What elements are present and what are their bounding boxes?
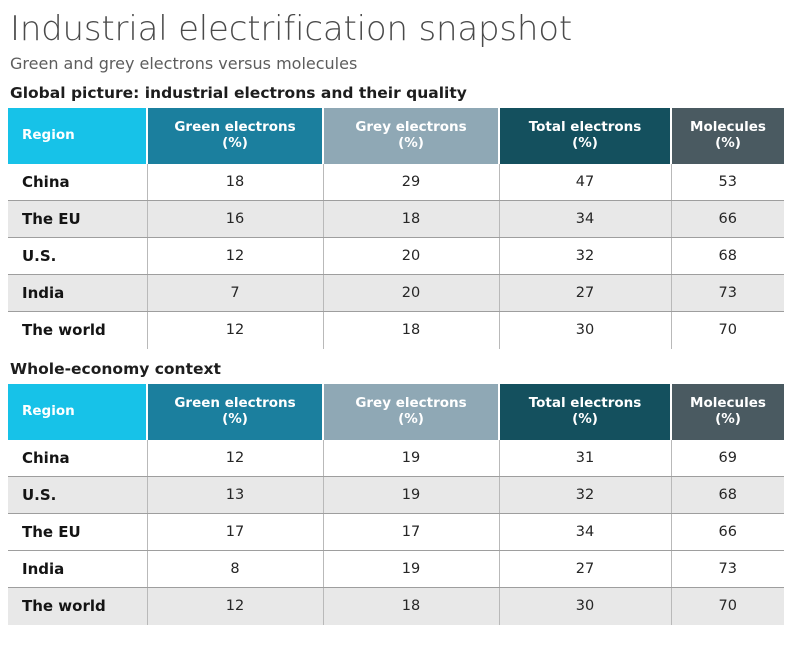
col-header-green-label: Green electrons <box>174 395 295 411</box>
cell-molecules: 68 <box>671 238 784 275</box>
col-header-green-label: Green electrons <box>174 119 295 135</box>
cell-molecules: 68 <box>671 477 784 514</box>
cell-molecules: 73 <box>671 275 784 312</box>
col-header-region-label: Region <box>22 127 75 143</box>
cell-region: The EU <box>8 201 147 238</box>
table-row: U.S. 12 20 32 68 <box>8 238 784 275</box>
cell-total: 34 <box>499 514 671 551</box>
table-body-global: China 18 29 47 53 The EU 16 18 34 66 U.S… <box>8 164 784 349</box>
table-wrap-global: Region Green electrons (%) Grey electron… <box>0 108 794 349</box>
cell-grey: 17 <box>323 514 499 551</box>
table-row: The EU 16 18 34 66 <box>8 201 784 238</box>
cell-region: The EU <box>8 514 147 551</box>
cell-grey: 20 <box>323 238 499 275</box>
cell-total: 32 <box>499 477 671 514</box>
col-header-molecules-label: Molecules <box>690 395 766 411</box>
cell-molecules: 73 <box>671 551 784 588</box>
col-header-molecules-unit: (%) <box>680 136 776 152</box>
cell-green: 16 <box>147 201 323 238</box>
col-header-green-unit: (%) <box>156 412 314 428</box>
table-row: China 12 19 31 69 <box>8 440 784 477</box>
cell-grey: 29 <box>323 164 499 201</box>
col-header-grey-unit: (%) <box>332 412 490 428</box>
col-header-molecules-label: Molecules <box>690 119 766 135</box>
cell-green: 8 <box>147 551 323 588</box>
table-row: India 8 19 27 73 <box>8 551 784 588</box>
cell-green: 17 <box>147 514 323 551</box>
col-header-total-electrons: Total electrons (%) <box>499 384 671 440</box>
cell-molecules: 70 <box>671 588 784 625</box>
cell-grey: 19 <box>323 551 499 588</box>
cell-green: 7 <box>147 275 323 312</box>
section-heading-global: Global picture: industrial electrons and… <box>0 73 794 108</box>
table-row: The world 12 18 30 70 <box>8 312 784 349</box>
table-global-picture: Region Green electrons (%) Grey electron… <box>8 108 784 349</box>
cell-total: 30 <box>499 312 671 349</box>
col-header-grey-electrons: Grey electrons (%) <box>323 384 499 440</box>
table-row: The world 12 18 30 70 <box>8 588 784 625</box>
table-header-whole-economy: Region Green electrons (%) Grey electron… <box>8 384 784 440</box>
col-header-region: Region <box>8 384 147 440</box>
cell-region: India <box>8 551 147 588</box>
col-header-green-unit: (%) <box>156 136 314 152</box>
table-row: The EU 17 17 34 66 <box>8 514 784 551</box>
col-header-total-unit: (%) <box>508 412 662 428</box>
cell-total: 32 <box>499 238 671 275</box>
table-wrap-whole-economy: Region Green electrons (%) Grey electron… <box>0 384 794 625</box>
col-header-molecules-unit: (%) <box>680 412 776 428</box>
section-heading-whole-economy: Whole-economy context <box>0 349 794 384</box>
table-row: China 18 29 47 53 <box>8 164 784 201</box>
col-header-green-electrons: Green electrons (%) <box>147 384 323 440</box>
cell-region: India <box>8 275 147 312</box>
cell-grey: 19 <box>323 477 499 514</box>
col-header-grey-label: Grey electrons <box>355 119 466 135</box>
col-header-total-electrons: Total electrons (%) <box>499 108 671 164</box>
col-header-total-label: Total electrons <box>529 395 642 411</box>
cell-grey: 18 <box>323 312 499 349</box>
cell-green: 13 <box>147 477 323 514</box>
col-header-total-label: Total electrons <box>529 119 642 135</box>
col-header-green-electrons: Green electrons (%) <box>147 108 323 164</box>
cell-region: U.S. <box>8 477 147 514</box>
cell-green: 12 <box>147 440 323 477</box>
col-header-grey-unit: (%) <box>332 136 490 152</box>
table-body-whole-economy: China 12 19 31 69 U.S. 13 19 32 68 The E… <box>8 440 784 625</box>
cell-total: 34 <box>499 201 671 238</box>
cell-grey: 20 <box>323 275 499 312</box>
table-row: U.S. 13 19 32 68 <box>8 477 784 514</box>
cell-green: 12 <box>147 588 323 625</box>
cell-green: 18 <box>147 164 323 201</box>
table-header-global: Region Green electrons (%) Grey electron… <box>8 108 784 164</box>
cell-region: The world <box>8 588 147 625</box>
cell-region: China <box>8 164 147 201</box>
col-header-grey-electrons: Grey electrons (%) <box>323 108 499 164</box>
col-header-total-unit: (%) <box>508 136 662 152</box>
col-header-grey-label: Grey electrons <box>355 395 466 411</box>
cell-total: 27 <box>499 551 671 588</box>
cell-total: 31 <box>499 440 671 477</box>
header-row: Region Green electrons (%) Grey electron… <box>8 108 784 164</box>
cell-total: 30 <box>499 588 671 625</box>
cell-grey: 18 <box>323 201 499 238</box>
cell-molecules: 66 <box>671 201 784 238</box>
header-row: Region Green electrons (%) Grey electron… <box>8 384 784 440</box>
cell-region: The world <box>8 312 147 349</box>
cell-green: 12 <box>147 238 323 275</box>
table-row: India 7 20 27 73 <box>8 275 784 312</box>
cell-grey: 19 <box>323 440 499 477</box>
cell-region: China <box>8 440 147 477</box>
cell-total: 27 <box>499 275 671 312</box>
page-title: Industrial electrification snapshot <box>0 0 794 48</box>
cell-molecules: 70 <box>671 312 784 349</box>
col-header-molecules: Molecules (%) <box>671 384 784 440</box>
cell-total: 47 <box>499 164 671 201</box>
page-subtitle: Green and grey electrons versus molecule… <box>0 48 794 73</box>
col-header-molecules: Molecules (%) <box>671 108 784 164</box>
cell-region: U.S. <box>8 238 147 275</box>
col-header-region: Region <box>8 108 147 164</box>
col-header-region-label: Region <box>22 403 75 419</box>
infographic-page: Industrial electrification snapshot Gree… <box>0 0 794 669</box>
cell-molecules: 69 <box>671 440 784 477</box>
cell-molecules: 53 <box>671 164 784 201</box>
cell-grey: 18 <box>323 588 499 625</box>
cell-molecules: 66 <box>671 514 784 551</box>
cell-green: 12 <box>147 312 323 349</box>
table-whole-economy: Region Green electrons (%) Grey electron… <box>8 384 784 625</box>
